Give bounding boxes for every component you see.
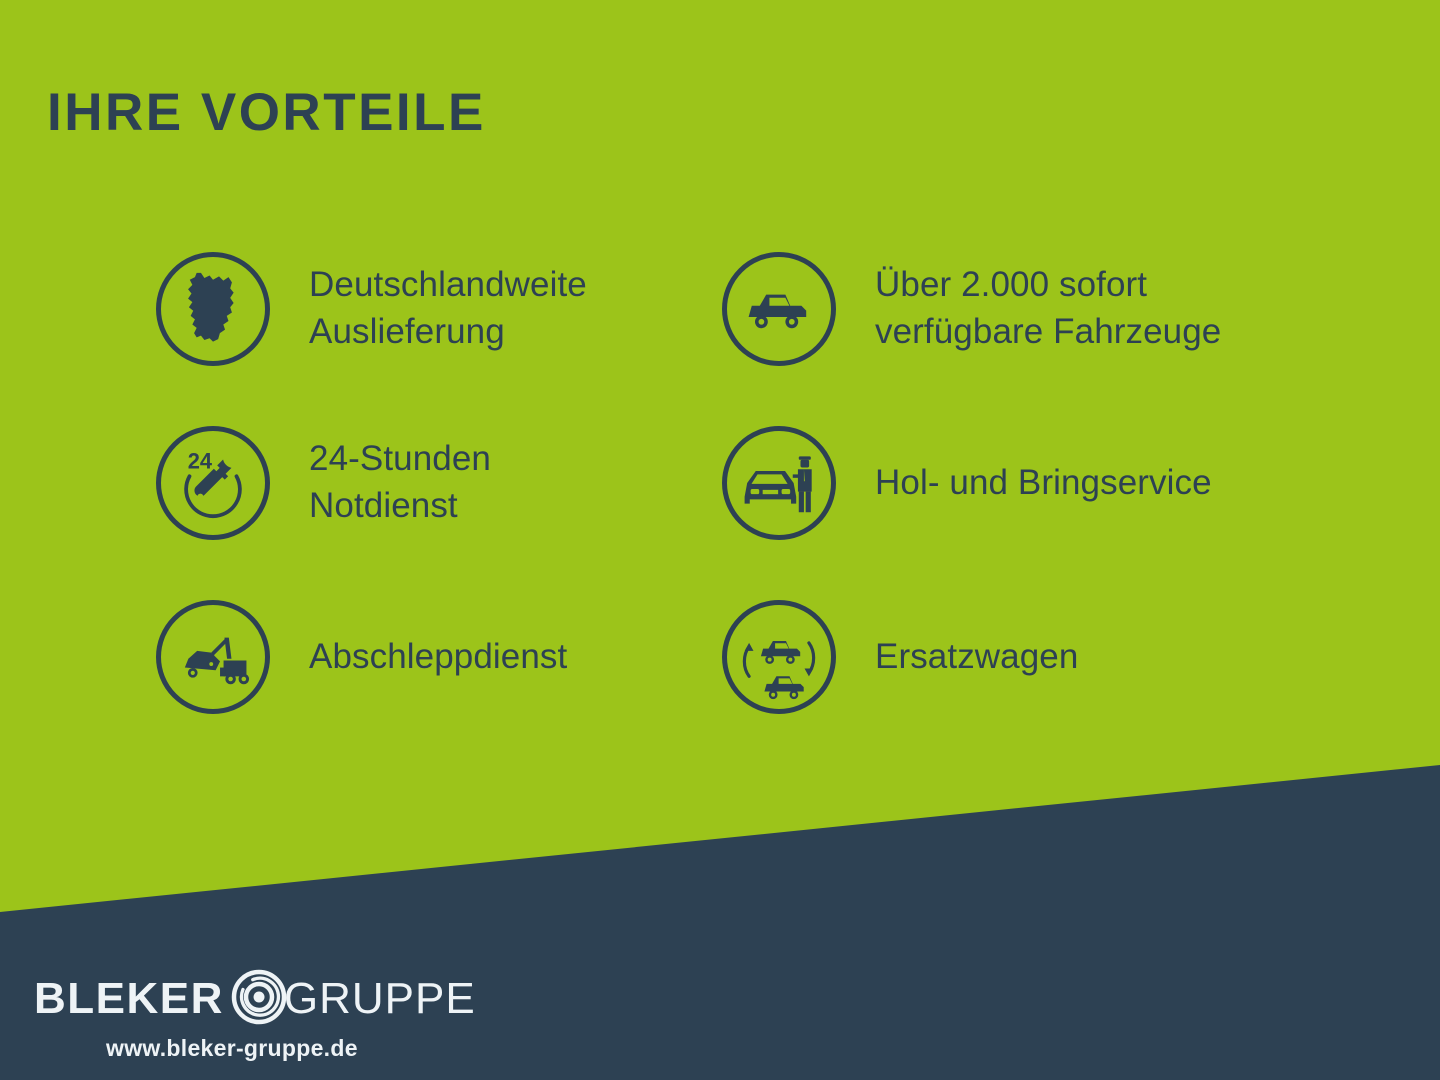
benefit-label: Hol- und Bringservice: [875, 460, 1212, 507]
benefits-left-column: Deutschlandweite Auslieferung 24 24-Stun…: [156, 222, 716, 744]
slide-canvas: IHRE VORTEILE Deutschlandweite Ausliefer…: [0, 0, 1440, 1080]
replacement-car-swap-icon: [722, 600, 836, 714]
germany-map-icon: [156, 252, 270, 366]
page-title: IHRE VORTEILE: [47, 86, 486, 139]
24-hour-wrench-icon: 24: [156, 426, 270, 540]
tow-truck-icon: [156, 600, 270, 714]
spiral-logo-icon: [228, 966, 290, 1033]
benefit-label: 24-Stunden Notdienst: [309, 436, 491, 529]
icon-24-text: 24: [188, 449, 213, 474]
benefit-item-deutschlandweite-auslieferung[interactable]: Deutschlandweite Auslieferung: [156, 222, 716, 396]
car-with-driver-icon: [722, 426, 836, 540]
car-side-icon: [722, 252, 836, 366]
benefit-item-verfuegbare-fahrzeuge[interactable]: Über 2.000 sofort verfügbare Fahrzeuge: [722, 222, 1422, 396]
benefit-label: Deutschlandweite Auslieferung: [309, 262, 587, 355]
benefit-label: Abschleppdienst: [309, 634, 567, 681]
logo-word-gruppe: GRUPPE: [284, 977, 476, 1021]
benefits-right-column: Über 2.000 sofort verfügbare Fahrzeuge: [722, 222, 1422, 744]
footer-logo[interactable]: BLEKER GRUPPE www.bleker-gruppe.de: [34, 972, 476, 1062]
logo-row: BLEKER GRUPPE: [34, 972, 476, 1026]
benefit-item-ersatzwagen[interactable]: Ersatzwagen: [722, 570, 1422, 744]
benefit-item-abschleppdienst[interactable]: Abschleppdienst: [156, 570, 716, 744]
benefit-item-24-stunden-notdienst[interactable]: 24 24-Stunden Notdienst: [156, 396, 716, 570]
benefit-item-hol-und-bringservice[interactable]: Hol- und Bringservice: [722, 396, 1422, 570]
logo-word-bleker: BLEKER: [34, 977, 224, 1021]
benefit-label: Ersatzwagen: [875, 634, 1078, 681]
benefit-label: Über 2.000 sofort verfügbare Fahrzeuge: [875, 262, 1221, 355]
logo-url[interactable]: www.bleker-gruppe.de: [106, 1035, 476, 1062]
